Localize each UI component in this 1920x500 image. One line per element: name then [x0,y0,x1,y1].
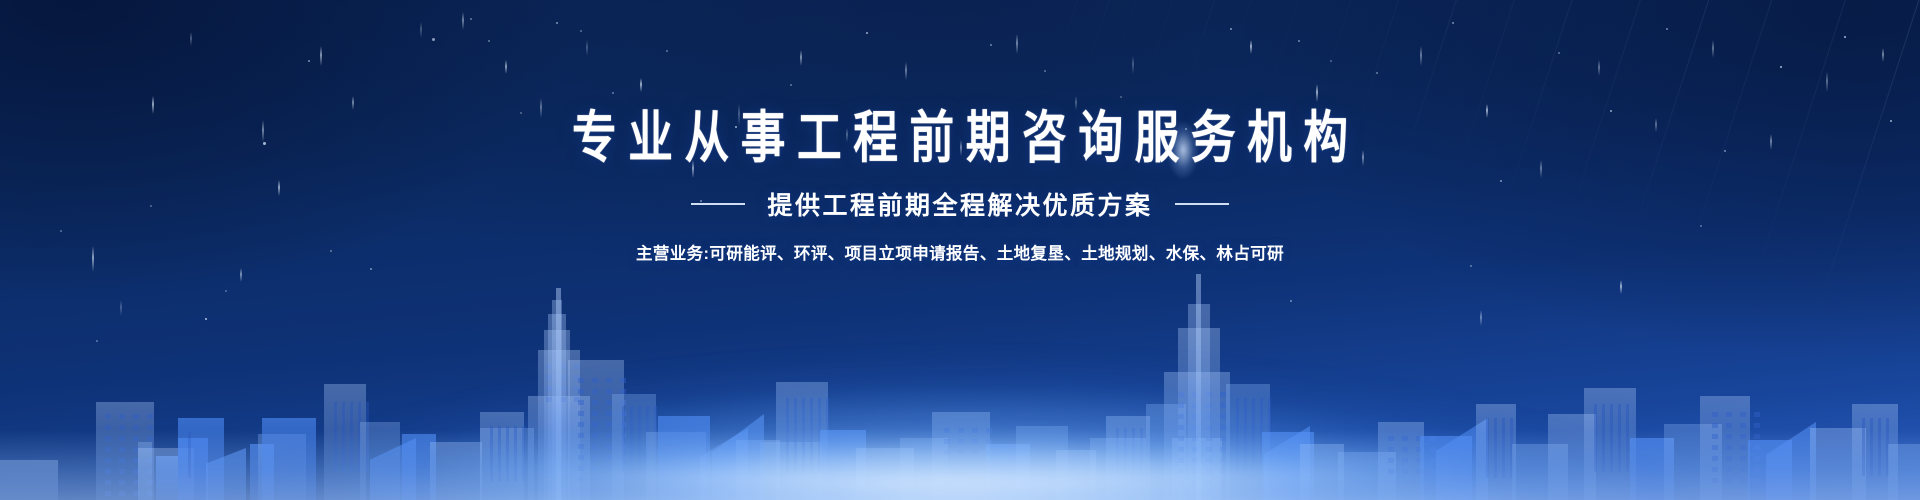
hero-banner: 专业从事工程前期咨询服务机构 提供工程前期全程解决优质方案 主营业务:可研能评、… [0,0,1920,500]
banner-subtitle-row: 提供工程前期全程解决优质方案 [691,186,1228,222]
right-dash-divider [1175,203,1229,205]
banner-subtitle: 提供工程前期全程解决优质方案 [767,186,1152,222]
banner-business-line: 主营业务:可研能评、环评、项目立项申请报告、土地复垦、土地规划、水保、林占可研 [636,240,1284,264]
banner-content: 专业从事工程前期咨询服务机构 提供工程前期全程解决优质方案 主营业务:可研能评、… [0,0,1920,500]
left-dash-divider [691,203,745,205]
banner-headline: 专业从事工程前期咨询服务机构 [560,108,1359,167]
